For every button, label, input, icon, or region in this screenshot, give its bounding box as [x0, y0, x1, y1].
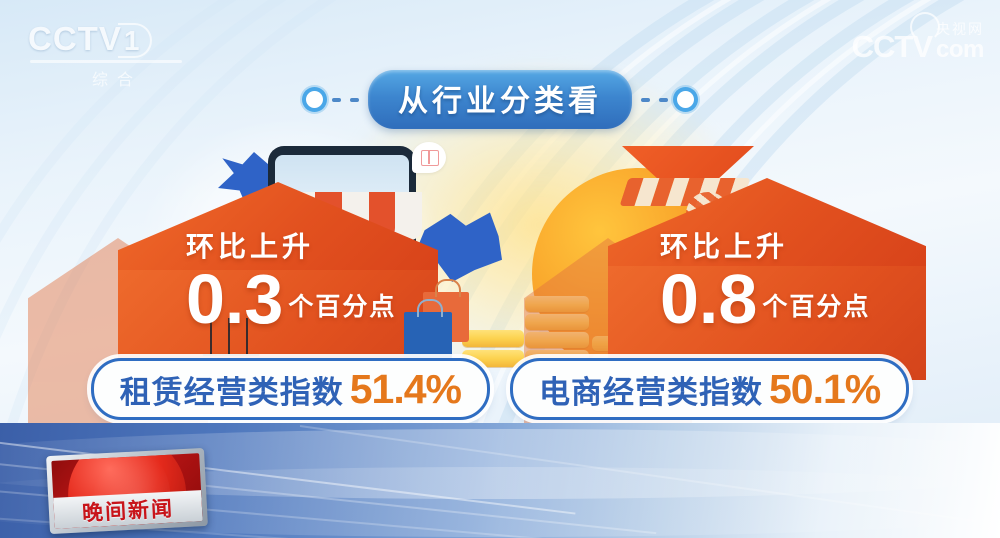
stat-unit-left: 个百分点 [288, 287, 396, 323]
index-pill-row: 租赁经营类指数 51.4% 电商经营类指数 50.1% [0, 358, 1000, 420]
broadcast-graphic-frame: CCTV1 综合 CCTV 央视网 com 从行业分类看 [0, 0, 1000, 538]
stat-label-left: 环比上升 [186, 225, 396, 265]
index-pill-right-value: 50.1% [769, 369, 880, 410]
stat-block-left: 环比上升 0.3 个百分点 [186, 225, 396, 331]
gift-bubble-icon [412, 142, 446, 173]
index-pill-right: 电商经营类指数 50.1% [510, 358, 909, 420]
stat-value-right: 0.8 [660, 267, 757, 331]
coin-stack-item [462, 330, 524, 347]
stat-label-right: 环比上升 [660, 225, 870, 265]
shopping-bag-blue-icon [404, 312, 452, 360]
program-logo: 晚间新闻 [46, 448, 208, 534]
index-pill-right-label: 电商经营类指数 [539, 367, 763, 412]
program-name: 晚间新闻 [81, 492, 174, 527]
gift-box-icon [421, 150, 439, 166]
stat-value-left: 0.3 [186, 267, 283, 331]
index-pill-left: 租赁经营类指数 51.4% [91, 358, 490, 420]
stat-block-right: 环比上升 0.8 个百分点 [660, 225, 870, 331]
stat-unit-right: 个百分点 [762, 287, 870, 323]
index-pill-left-label: 租赁经营类指数 [120, 367, 344, 412]
index-pill-left-value: 51.4% [350, 369, 461, 410]
